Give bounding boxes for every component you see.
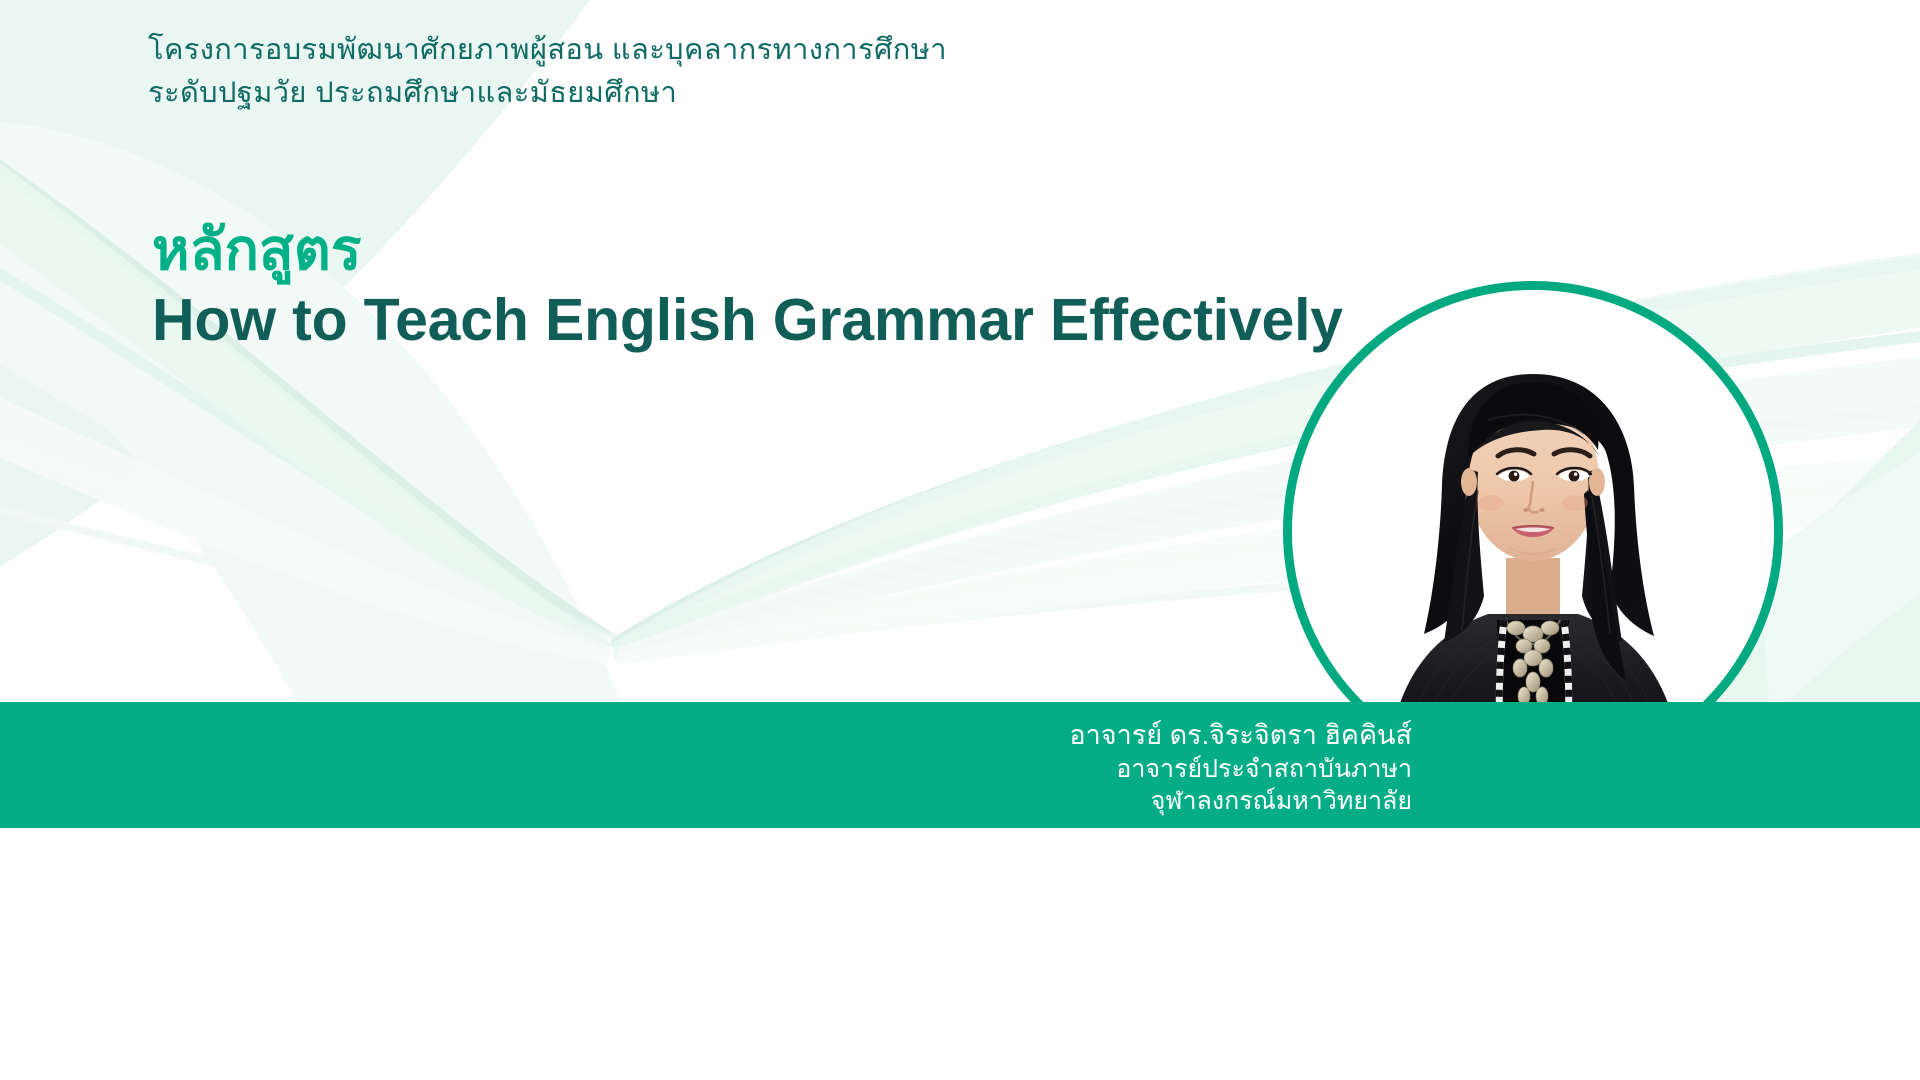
speaker-name: อาจารย์ ดร.จิระจิตรา ฮิคคินส์	[1060, 718, 1412, 753]
speaker-role: อาจารย์ประจำสถาบันภาษา	[1060, 753, 1412, 786]
speaker-affiliation: จุฬาลงกรณ์มหาวิทยาลัย	[1060, 785, 1412, 818]
speaker-info: อาจารย์ ดร.จิระจิตรา ฮิคคินส์ อาจารย์ประ…	[1060, 718, 1412, 818]
footer: SAKDIBHORNSSUP FOUNDATION มูลนิธิศักดิ์พ…	[0, 828, 1920, 1080]
course-title-group: หลักสูตร How to Teach English Grammar Ef…	[152, 222, 1343, 353]
seminar-banner: โครงการอบรมพัฒนาศักยภาพผู้สอน และบุคลากร…	[0, 0, 1920, 1080]
kicker-line-2: ระดับปฐมวัย ประถมศึกษาและมัธยมศึกษา	[148, 73, 947, 114]
program-kicker: โครงการอบรมพัฒนาศักยภาพผู้สอน และบุคลากร…	[148, 30, 947, 114]
course-label-thai: หลักสูตร	[152, 222, 1343, 279]
speaker-green-band	[0, 702, 1920, 828]
kicker-line-1: โครงการอบรมพัฒนาศักยภาพผู้สอน และบุคลากร…	[148, 30, 947, 71]
course-title-english: How to Teach English Grammar Effectively	[152, 287, 1343, 353]
